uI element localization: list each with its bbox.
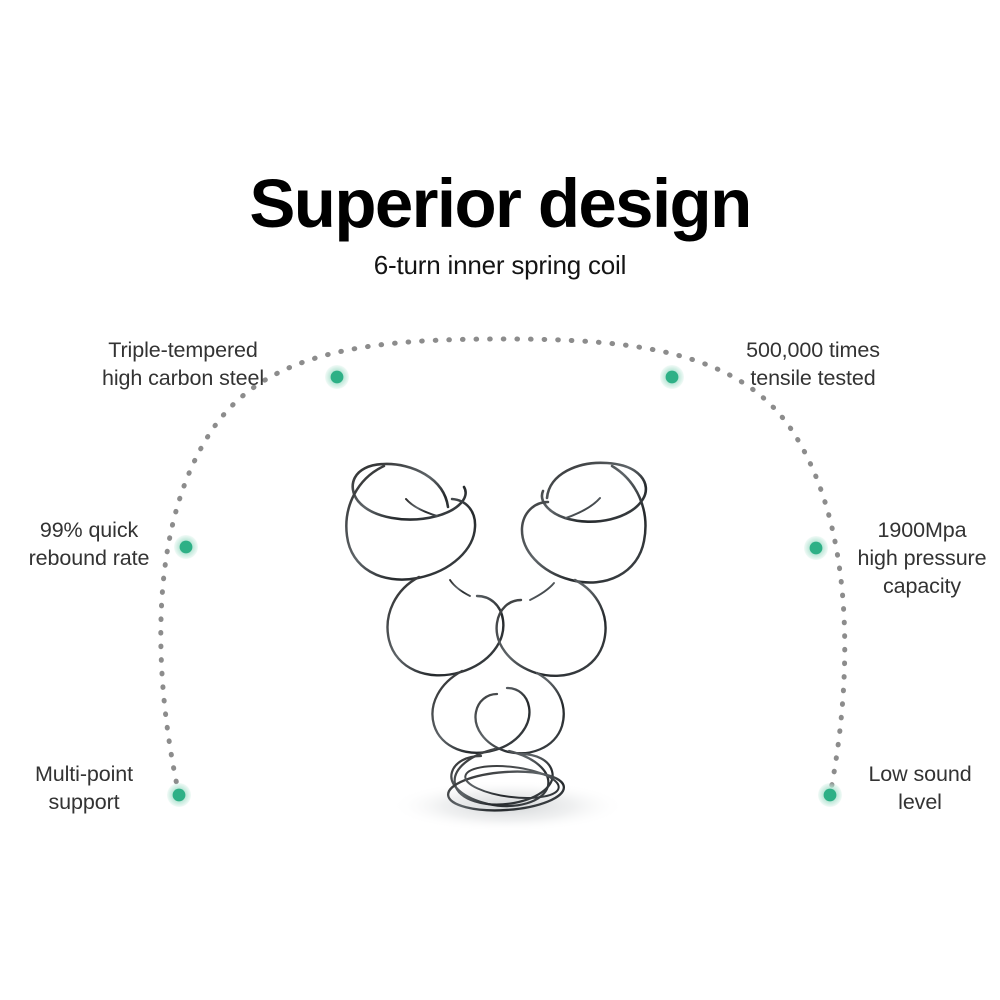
feature-label-multi-point: Multi-point support <box>6 760 162 816</box>
spring-coil-illustration <box>0 0 1000 1000</box>
infographic-page: Superior design 6-turn inner spring coil <box>0 0 1000 1000</box>
feature-label-sound-level: Low sound level <box>848 760 992 816</box>
feature-label-tensile-tested: 500,000 times tensile tested <box>690 336 936 392</box>
feature-label-rebound-rate: 99% quick rebound rate <box>6 516 172 572</box>
feature-label-triple-tempered: Triple-tempered high carbon steel <box>60 336 306 392</box>
feature-label-pressure-capacity: 1900Mpa high pressure capacity <box>846 516 998 600</box>
spring-wire-coils <box>346 463 646 814</box>
